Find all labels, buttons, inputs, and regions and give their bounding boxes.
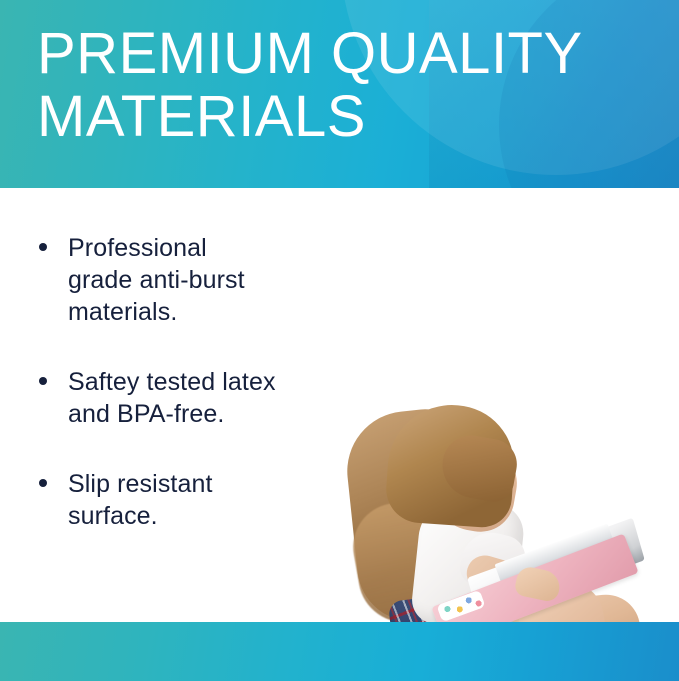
feature-bullet-list: Professional grade anti-burst materials.…	[30, 232, 330, 570]
feature-bullet-text: Saftey tested latex and BPA-free.	[68, 366, 330, 430]
list-item: Slip resistant surface.	[30, 468, 330, 532]
feature-bullet-text: Slip resistant surface.	[68, 468, 330, 532]
page-title: PREMIUM QUALITY MATERIALS	[37, 22, 637, 148]
feature-bullet-text: Professional grade anti-burst materials.	[68, 232, 330, 328]
header-banner: PREMIUM QUALITY MATERIALS	[0, 0, 679, 188]
list-item: Professional grade anti-burst materials.	[30, 232, 330, 328]
bullet-dot-icon	[39, 243, 47, 251]
bullet-dot-icon	[39, 377, 47, 385]
bullet-dot-icon	[39, 479, 47, 487]
list-item: Saftey tested latex and BPA-free.	[30, 366, 330, 430]
product-feature-card: PREMIUM QUALITY MATERIALS Professional g…	[0, 0, 679, 681]
footer-banner	[0, 622, 679, 681]
content-area: Professional grade anti-burst materials.…	[0, 188, 679, 622]
